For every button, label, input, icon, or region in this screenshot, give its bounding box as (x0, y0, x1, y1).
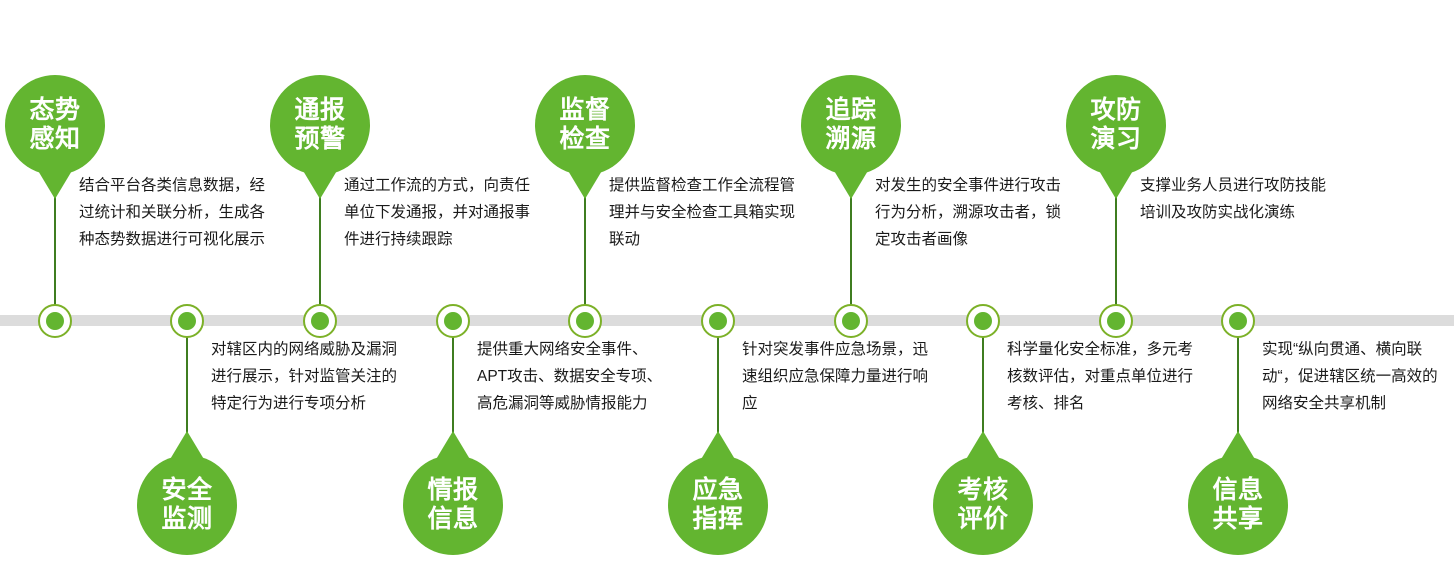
teardrop-badge[interactable]: 考核 评价 (933, 455, 1033, 555)
timeline-infographic: 态势 感知结合平台各类信息数据，经过统计和关联分析，生成各种态势数据进行可视化展… (0, 0, 1454, 587)
teardrop-tip-icon (1220, 431, 1256, 461)
timeline-dot-icon[interactable] (966, 304, 1000, 338)
teardrop-badge[interactable]: 情报 信息 (403, 455, 503, 555)
timeline-dot-icon[interactable] (303, 304, 337, 338)
node-description: 通过工作流的方式，向责任单位下发通报，并对通报事件进行持续跟踪 (344, 172, 530, 253)
node-description: 针对突发事件应急场景，迅速组织应急保障力量进行响应 (742, 336, 928, 417)
badge-label: 通报 预警 (294, 96, 345, 154)
node-description: 结合平台各类信息数据，经过统计和关联分析，生成各种态势数据进行可视化展示 (79, 172, 265, 253)
timeline-dot-icon[interactable] (701, 304, 735, 338)
teardrop-tip-icon (567, 169, 603, 199)
teardrop-badge[interactable]: 追踪 溯源 (801, 75, 901, 175)
timeline-dot-icon[interactable] (1099, 304, 1133, 338)
node-description: 提供监督检查工作全流程管理并与安全检查工具箱实现联动 (609, 172, 795, 253)
node-description: 实现“纵向贯通、横向联动“，促进辖区统一高效的网络安全共享机制 (1262, 336, 1448, 417)
teardrop-badge[interactable]: 安全 监测 (137, 455, 237, 555)
teardrop-tip-icon (833, 169, 869, 199)
node-description: 对辖区内的网络威胁及漏洞进行展示，针对监管关注的特定行为进行专项分析 (211, 336, 397, 417)
teardrop-badge[interactable]: 应急 指挥 (668, 455, 768, 555)
teardrop-tip-icon (169, 431, 205, 461)
teardrop-tip-icon (700, 431, 736, 461)
teardrop-badge[interactable]: 通报 预警 (270, 75, 370, 175)
node-description: 提供重大网络安全事件、APT攻击、数据安全专项、高危漏洞等威胁情报能力 (477, 336, 663, 417)
badge-label: 监督 检查 (559, 96, 610, 154)
badge-label: 态势 感知 (29, 96, 80, 154)
timeline-dot-icon[interactable] (436, 304, 470, 338)
teardrop-badge[interactable]: 信息 共享 (1188, 455, 1288, 555)
node-description: 科学量化安全标准，多元考核数评估，对重点单位进行考核、排名 (1007, 336, 1193, 417)
teardrop-tip-icon (435, 431, 471, 461)
teardrop-tip-icon (965, 431, 1001, 461)
badge-label: 追踪 溯源 (825, 96, 876, 154)
timeline-dot-icon[interactable] (170, 304, 204, 338)
badge-label: 攻防 演习 (1090, 96, 1141, 154)
badge-label: 情报 信息 (427, 476, 478, 534)
badge-label: 考核 评价 (957, 476, 1008, 534)
teardrop-tip-icon (37, 169, 73, 199)
teardrop-badge[interactable]: 态势 感知 (5, 75, 105, 175)
badge-label: 信息 共享 (1212, 476, 1263, 534)
badge-label: 安全 监测 (161, 476, 212, 534)
timeline-dot-icon[interactable] (1221, 304, 1255, 338)
teardrop-tip-icon (1098, 169, 1134, 199)
teardrop-badge[interactable]: 攻防 演习 (1066, 75, 1166, 175)
timeline-dot-icon[interactable] (568, 304, 602, 338)
badge-label: 应急 指挥 (692, 476, 743, 534)
timeline-dot-icon[interactable] (834, 304, 868, 338)
teardrop-badge[interactable]: 监督 检查 (535, 75, 635, 175)
teardrop-tip-icon (302, 169, 338, 199)
node-description: 对发生的安全事件进行攻击行为分析，溯源攻击者，锁定攻击者画像 (875, 172, 1061, 253)
timeline-dot-icon[interactable] (38, 304, 72, 338)
node-description: 支撑业务人员进行攻防技能培训及攻防实战化演练 (1140, 172, 1326, 226)
